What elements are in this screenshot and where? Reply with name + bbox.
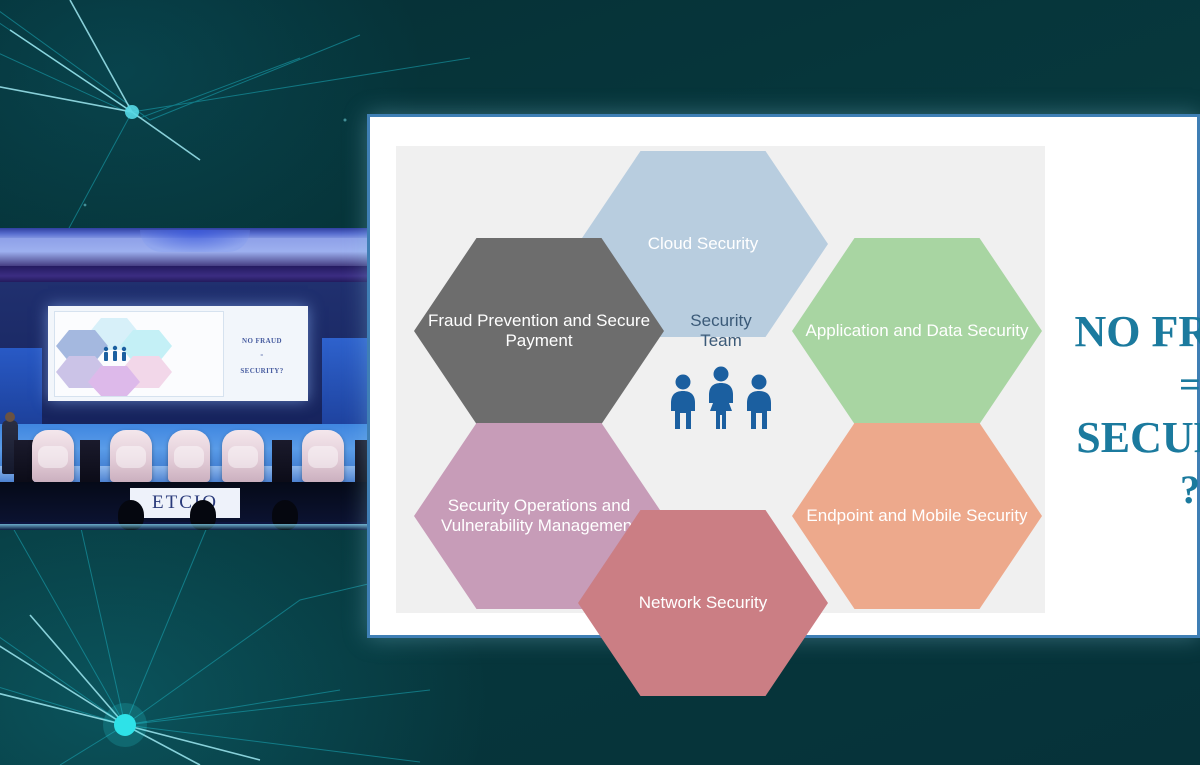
podium xyxy=(272,440,292,482)
projected-slogan: NO FRAUD = SECURITY? xyxy=(222,334,302,379)
male-person-icon xyxy=(668,373,698,431)
hexagon-label-security-operations: Security Operations and Vulnerability Ma… xyxy=(422,496,656,536)
diagram-panel: Cloud SecurityFraud Prevention and Secur… xyxy=(396,146,1045,613)
photo-bottom-glow xyxy=(0,524,368,530)
projected-slogan-line1: NO FRAUD xyxy=(242,337,282,345)
hexagon-label-fraud-prevention: Fraud Prevention and Secure Payment xyxy=(422,311,656,351)
network-node-top xyxy=(125,105,139,119)
hexagon-endpoint-mobile-security[interactable]: Endpoint and Mobile Security xyxy=(792,423,1042,609)
security-team-label-line2: Team xyxy=(700,331,742,350)
hexagon-label-cloud-security: Cloud Security xyxy=(586,234,820,254)
security-team-label: Security Team xyxy=(641,311,801,351)
female-person-icon xyxy=(705,365,737,431)
security-team-label-line1: Security xyxy=(690,311,751,330)
podium xyxy=(14,440,34,482)
slogan-question-mark: ? xyxy=(1060,467,1200,513)
etcio-signage: ETCIO xyxy=(130,488,240,518)
dome-light xyxy=(140,230,250,252)
projected-hexagon-diagram xyxy=(54,311,224,397)
stage-chair xyxy=(32,430,74,482)
hexagon-label-network-security: Network Security xyxy=(586,593,820,613)
security-team-center: Security Team xyxy=(641,311,801,431)
slide-slogan: NO FRAUD = SECURITY ? xyxy=(1060,303,1200,513)
people-icons xyxy=(641,365,801,431)
projected-slogan-equals: = xyxy=(222,349,302,364)
podium xyxy=(80,440,100,482)
projection-screen: NO FRAUD = SECURITY? xyxy=(48,306,308,401)
hexagon-label-application-data-security: Application and Data Security xyxy=(800,321,1034,341)
conference-stage-photo: NO FRAUD = SECURITY? ETCIO xyxy=(0,228,368,530)
slogan-equals: = xyxy=(1060,361,1200,409)
screenshot-root: NO FRAUD = SECURITY? ETCIO Cloud Securit… xyxy=(0,0,1200,765)
slide-card: Cloud SecurityFraud Prevention and Secur… xyxy=(367,114,1200,638)
slogan-line-1: NO FRAUD xyxy=(1060,303,1200,361)
stage-chair xyxy=(110,430,152,482)
slogan-line-2: SECURITY xyxy=(1060,409,1200,467)
stage-chair xyxy=(168,430,210,482)
stage-chair xyxy=(222,430,264,482)
projected-slogan-line2: SECURITY? xyxy=(240,367,283,375)
stage-chair xyxy=(302,430,344,482)
projected-hexagons-svg xyxy=(55,312,223,396)
male-person-icon xyxy=(744,373,774,431)
hexagon-label-endpoint-mobile-security: Endpoint and Mobile Security xyxy=(800,506,1034,526)
hexagon-application-data-security[interactable]: Application and Data Security xyxy=(792,238,1042,424)
